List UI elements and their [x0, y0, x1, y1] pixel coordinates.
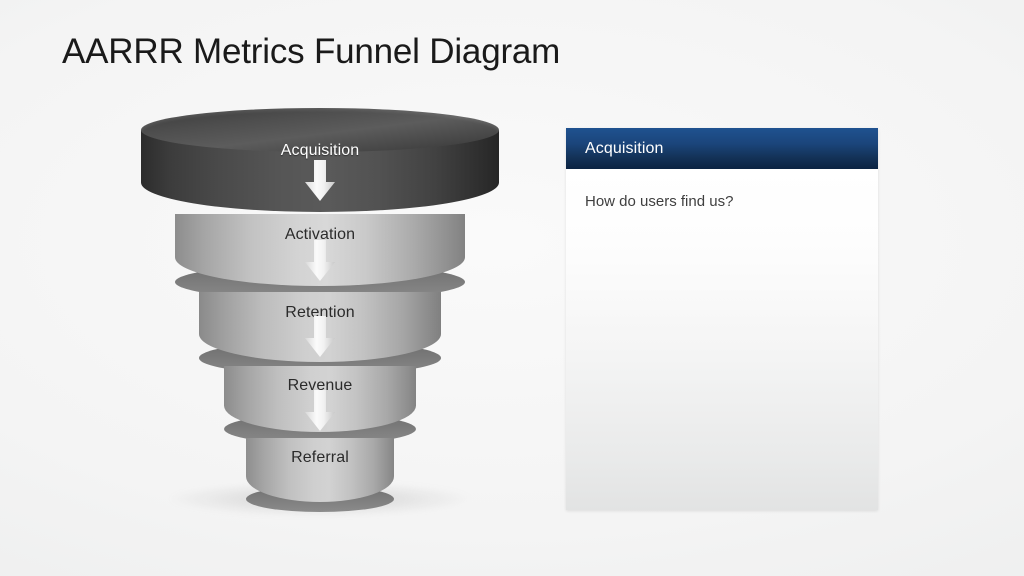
funnel-diagram: Acquisition Activation Retention Revenue… [120, 122, 520, 522]
arrow-down-icon [303, 316, 337, 358]
panel-header: Acquisition [566, 128, 878, 169]
stage-cylinder-top [141, 108, 499, 152]
panel-body-text: How do users find us? [585, 191, 859, 213]
panel-header-title: Acquisition [585, 140, 663, 158]
arrow-down-icon [303, 240, 337, 282]
funnel-stage-referral[interactable]: Referral [246, 438, 394, 502]
panel-body: How do users find us? [566, 169, 878, 510]
stage-detail-panel: Acquisition How do users find us? [566, 128, 878, 510]
arrow-down-icon [303, 390, 337, 432]
arrow-down-icon [303, 160, 337, 202]
page-title: AARRR Metrics Funnel Diagram [62, 32, 560, 72]
slide-canvas: AARRR Metrics Funnel Diagram Acquisition… [0, 0, 1024, 576]
stage-cylinder-body [246, 438, 394, 502]
